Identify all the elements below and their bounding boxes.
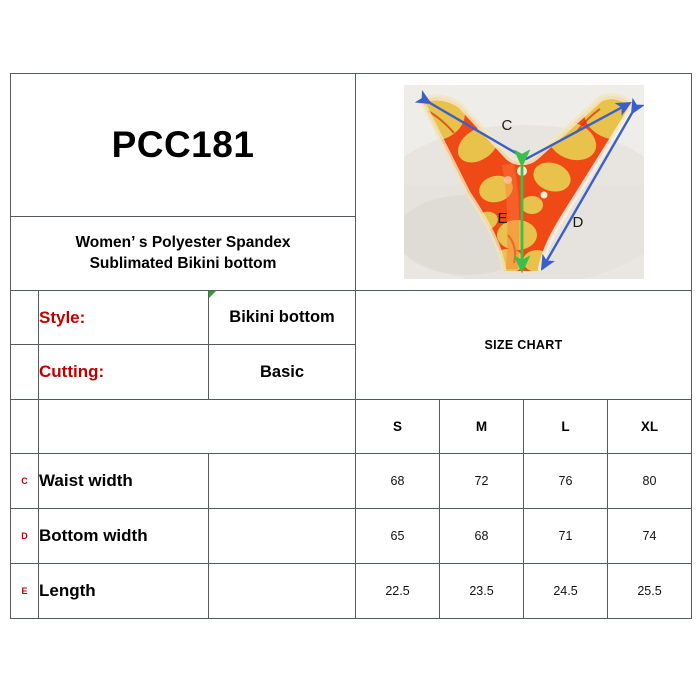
- size-header-blank: [39, 399, 356, 453]
- tag-spacer-sizehead: [11, 399, 39, 453]
- measure-value-waist-l: 76: [524, 453, 608, 508]
- measurement-row: D Bottom width 65 68 71 74: [11, 508, 692, 563]
- style-value-cell: Bikini bottom: [209, 291, 356, 345]
- measure-value-length-s: 22.5: [356, 563, 440, 618]
- measurement-row: E Length 22.5 23.5 24.5 25.5: [11, 563, 692, 618]
- measure-value-length-xl: 25.5: [608, 563, 692, 618]
- measure-label-c: C: [502, 118, 513, 133]
- measure-label-e: E: [498, 211, 508, 226]
- tag-spacer-style: [11, 291, 39, 345]
- measure-note-length: [209, 563, 356, 618]
- size-column-s: S: [356, 399, 440, 453]
- size-chart-title-cell: SIZE CHART: [356, 291, 692, 399]
- product-photo: C E D: [404, 85, 644, 279]
- cutting-value-cell: Basic: [209, 345, 356, 399]
- measure-label-d: D: [573, 215, 584, 230]
- product-photo-cell: C E D: [356, 74, 692, 291]
- style-code-cell: PCC181: [11, 74, 356, 217]
- description-line-2: Sublimated Bikini bottom: [11, 254, 355, 274]
- size-column-m: M: [440, 399, 524, 453]
- measure-value-bottom-xl: 74: [608, 508, 692, 563]
- style-value: Bikini bottom: [229, 308, 334, 326]
- measure-value-length-l: 24.5: [524, 563, 608, 618]
- tag-spacer-cutting: [11, 345, 39, 399]
- description-line-1: Women’ s Polyester Spandex: [11, 233, 355, 253]
- measure-value-waist-s: 68: [356, 453, 440, 508]
- measure-value-length-m: 23.5: [440, 563, 524, 618]
- size-column-l: L: [524, 399, 608, 453]
- cutting-value: Basic: [260, 363, 304, 381]
- spec-table: PCC181: [10, 73, 692, 619]
- product-description-cell: Women’ s Polyester Spandex Sublimated Bi…: [11, 217, 356, 291]
- measurement-row: C Waist width 68 72 76 80: [11, 453, 692, 508]
- measure-tag-e: E: [11, 563, 39, 618]
- attribute-row-style: Style: Bikini bottom SIZE CHART: [11, 291, 692, 345]
- bikini-bottom-illustration: [404, 85, 644, 279]
- measure-value-bottom-s: 65: [356, 508, 440, 563]
- measure-label-waist-width: Waist width: [39, 453, 209, 508]
- measure-note-bottom-width: [209, 508, 356, 563]
- size-column-xl: XL: [608, 399, 692, 453]
- style-code-text: PCC181: [112, 124, 255, 165]
- cutting-key: Cutting:: [39, 345, 209, 399]
- measure-tag-c: C: [11, 453, 39, 508]
- size-header-row: S M L XL: [11, 399, 692, 453]
- comment-flag-icon: [209, 291, 216, 298]
- measure-note-waist-width: [209, 453, 356, 508]
- measure-label-length: Length: [39, 563, 209, 618]
- measure-tag-d: D: [11, 508, 39, 563]
- measure-value-waist-m: 72: [440, 453, 524, 508]
- measure-value-bottom-l: 71: [524, 508, 608, 563]
- header-row: PCC181: [11, 74, 692, 217]
- style-key: Style:: [39, 291, 209, 345]
- measure-value-bottom-m: 68: [440, 508, 524, 563]
- product-spec-sheet: PCC181: [10, 73, 690, 619]
- measure-label-bottom-width: Bottom width: [39, 508, 209, 563]
- measure-value-waist-xl: 80: [608, 453, 692, 508]
